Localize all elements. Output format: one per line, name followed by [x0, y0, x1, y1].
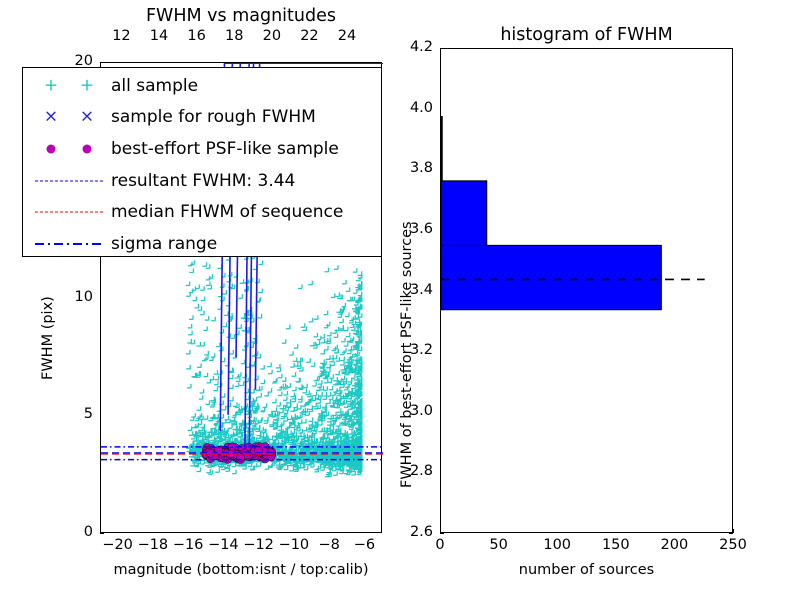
histogram-xtick-label: 150 — [586, 537, 646, 553]
legend-symbol — [31, 165, 107, 197]
legend-entry-label: best-effort PSF-like sample — [111, 139, 339, 159]
legend-entry[interactable]: sigma range — [23, 228, 381, 260]
line-sample-icon — [35, 180, 103, 181]
circle-marker-icon — [83, 145, 92, 154]
histogram-title: histogram of FWHM — [440, 25, 733, 45]
histogram-data-layer — [441, 49, 734, 534]
legend-entry[interactable]: median FHWM of sequence — [23, 197, 381, 229]
legend-entry[interactable]: best-effort PSF-like sample — [23, 133, 381, 165]
scatter-ylabel: FWHM (pix) — [40, 296, 56, 380]
histogram-xtick-label: 100 — [527, 537, 587, 553]
histogram-xlabel: number of sources — [440, 562, 733, 578]
series-all-sample — [186, 235, 362, 477]
legend-entry[interactable]: ++all sample — [23, 70, 381, 102]
legend-entry-label: sigma range — [111, 234, 217, 254]
circle-marker-icon — [47, 145, 56, 154]
legend-entry[interactable]: resultant FWHM: 3.44 — [23, 165, 381, 197]
histogram-bars — [441, 117, 661, 310]
histogram-ylabel: FWHM of best-effort PSF-like sources — [399, 221, 415, 488]
plus-marker-icon: + — [80, 77, 94, 94]
figure-canvas: FWHM vs magnitudes 12141618202224 −20−18… — [0, 0, 800, 600]
legend-entry-label: all sample — [111, 76, 198, 96]
histogram-xtick-label: 250 — [703, 537, 763, 553]
legend-symbol: ++ — [31, 70, 107, 102]
histogram-ytick-label: 3.8 — [378, 160, 433, 176]
plus-marker-icon: + — [44, 77, 58, 94]
histogram-xtick-label: 200 — [644, 537, 704, 553]
legend-symbol — [31, 197, 107, 229]
histogram-xtick-label: 50 — [469, 537, 529, 553]
scatter-title: FWHM vs magnitudes — [100, 6, 382, 26]
cross-marker-icon: × — [80, 109, 94, 126]
legend-entry[interactable]: ××sample for rough FWHM — [23, 102, 381, 134]
line-sample-icon — [35, 212, 103, 213]
scatter-xlabel: magnitude (bottom:isnt / top:calib) — [100, 562, 382, 578]
cross-marker-icon: × — [44, 109, 58, 126]
histogram-ytick-label: 4.2 — [378, 39, 433, 55]
legend-symbol: ×× — [31, 102, 107, 134]
legend[interactable]: ++all sample××sample for rough FWHMbest-… — [22, 67, 382, 257]
histogram-plot-area[interactable] — [440, 48, 733, 533]
legend-symbol — [31, 228, 107, 260]
scatter-top-xtick-label: 24 — [322, 28, 372, 44]
histogram-ytick-label: 4.0 — [378, 100, 433, 116]
legend-entry-label: sample for rough FWHM — [111, 107, 316, 127]
legend-entry-label: resultant FWHM: 3.44 — [111, 171, 295, 191]
histogram-ytick-label: 2.6 — [378, 524, 433, 540]
legend-entry-label: median FHWM of sequence — [111, 202, 343, 222]
scatter-ytick-label: 5 — [38, 406, 93, 422]
legend-symbol — [31, 133, 107, 165]
line-sample-icon — [35, 243, 103, 245]
scatter-ytick-label: 0 — [38, 524, 93, 540]
